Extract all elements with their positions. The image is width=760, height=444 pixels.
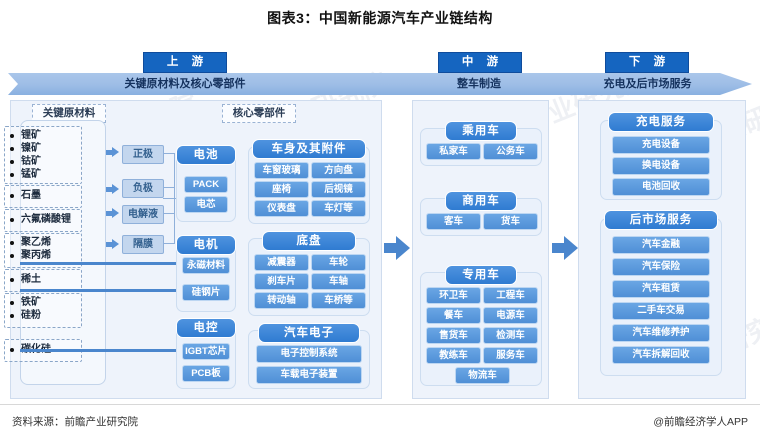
material-box-electrolyte[interactable]: 电解液: [122, 205, 164, 224]
chip[interactable]: 换电设备: [612, 157, 710, 175]
chip[interactable]: 工程车: [483, 287, 538, 304]
stage-label-upstream: 关键原材料及核心零部件: [90, 75, 280, 93]
chip[interactable]: 后视镜: [311, 181, 366, 198]
brand-note: @前瞻经济学人APP: [653, 414, 748, 429]
chip[interactable]: 物流车: [455, 367, 510, 384]
chip[interactable]: 汽车租赁: [612, 280, 710, 298]
connector-arrow-icon: [106, 208, 119, 219]
stage-tab-downstream[interactable]: 下 游: [605, 52, 689, 73]
material-box-separator[interactable]: 隔膜: [122, 235, 164, 254]
card-title-aftermarket-service: 后市场服务: [604, 210, 718, 230]
stage-label-downstream: 充电及后市场服务: [570, 75, 725, 93]
chip[interactable]: 教练车: [426, 347, 481, 364]
connector-arrow-icon: [106, 184, 119, 195]
chip[interactable]: 电子控制系统: [256, 345, 362, 363]
connector-line: [163, 198, 177, 199]
card-title-charging-service: 充电服务: [608, 112, 714, 132]
stage-arrow-icon: [552, 236, 578, 260]
chip[interactable]: 汽车拆解回收: [612, 346, 710, 364]
connector-line: [20, 289, 198, 292]
card-title-controller: 电控: [176, 318, 236, 338]
raw-item: 镍矿: [5, 142, 81, 155]
source-note: 资料来源：前瞻产业研究院: [12, 414, 138, 429]
raw-group: 六氟磷酸锂: [4, 209, 82, 232]
raw-group: 铁矿 硅粉: [4, 293, 82, 328]
chip[interactable]: 私家车: [426, 143, 481, 160]
raw-item: 聚乙烯: [5, 236, 81, 249]
chip[interactable]: 汽车保险: [612, 258, 710, 276]
connector-line: [20, 262, 198, 265]
stage-tab-upstream[interactable]: 上 游: [143, 52, 227, 73]
raw-group: 锂矿 镍矿 钴矿 锰矿: [4, 126, 82, 184]
chip[interactable]: 二手车交易: [612, 302, 710, 320]
chip[interactable]: 汽车维修养护: [612, 324, 710, 342]
raw-item: 六氟磷酸锂: [5, 213, 81, 226]
raw-item: 稀土: [5, 273, 81, 286]
section-title-core-components: 核心零部件: [222, 104, 296, 123]
raw-item: 锂矿: [5, 129, 81, 142]
chip[interactable]: 座椅: [254, 181, 309, 198]
raw-group: 石墨: [4, 185, 82, 208]
chip[interactable]: PCB板: [182, 365, 230, 382]
card-title-body-accessories: 车身及其附件: [252, 139, 366, 159]
connector-line: [20, 349, 198, 352]
chip[interactable]: 刹车片: [254, 273, 309, 290]
chip[interactable]: 车桥等: [311, 292, 366, 309]
raw-item: 硅粉: [5, 309, 81, 322]
chip[interactable]: 车载电子装置: [256, 366, 362, 384]
card-title-motor: 电机: [176, 235, 236, 255]
chip[interactable]: 服务车: [483, 347, 538, 364]
chip[interactable]: 电池回收: [612, 178, 710, 196]
chip[interactable]: 减震器: [254, 254, 309, 271]
chip[interactable]: 餐车: [426, 307, 481, 324]
chip[interactable]: IGBT芯片: [182, 343, 230, 360]
card-title-auto-electronics: 汽车电子: [258, 323, 360, 343]
footer-divider: [0, 404, 760, 405]
page-title: 图表3：中国新能源汽车产业链结构: [0, 8, 760, 28]
stage-label-midstream: 整车制造: [404, 75, 554, 93]
raw-item: 钴矿: [5, 155, 81, 168]
material-box-anode[interactable]: 负极: [122, 179, 164, 198]
chip[interactable]: 仪表盘: [254, 200, 309, 217]
raw-item: 铁矿: [5, 296, 81, 309]
chip[interactable]: PACK: [184, 176, 228, 193]
connector-arrow-icon: [106, 239, 119, 250]
stage-arrow-icon: [384, 236, 410, 260]
chip[interactable]: 电源车: [483, 307, 538, 324]
card-title-commercial-vehicle: 商用车: [445, 191, 517, 211]
stage-tab-midstream[interactable]: 中 游: [438, 52, 522, 73]
chip[interactable]: 环卫车: [426, 287, 481, 304]
chip[interactable]: 车轴: [311, 273, 366, 290]
chip[interactable]: 硅钢片: [182, 284, 230, 301]
card-title-battery: 电池: [176, 145, 236, 165]
chip[interactable]: 永磁材料: [182, 257, 230, 274]
chip[interactable]: 售货车: [426, 327, 481, 344]
chip[interactable]: 客车: [426, 213, 481, 230]
card-title-passenger-vehicle: 乘用车: [445, 121, 517, 141]
raw-item: 石墨: [5, 189, 81, 202]
connector-arrow-icon: [106, 147, 119, 158]
material-box-cathode[interactable]: 正极: [122, 145, 164, 164]
chip[interactable]: 车灯等: [311, 200, 366, 217]
chip[interactable]: 车轮: [311, 254, 366, 271]
chip[interactable]: 公务车: [483, 143, 538, 160]
chip[interactable]: 车窗玻璃: [254, 162, 309, 179]
chip[interactable]: 方向盘: [311, 162, 366, 179]
chip[interactable]: 检测车: [483, 327, 538, 344]
chip[interactable]: 汽车金融: [612, 236, 710, 254]
card-title-special-vehicle: 专用车: [445, 265, 517, 285]
raw-item: 锰矿: [5, 168, 81, 181]
chip[interactable]: 电芯: [184, 196, 228, 213]
chip[interactable]: 货车: [483, 213, 538, 230]
raw-item: 聚丙烯: [5, 249, 81, 262]
card-title-chassis: 底盘: [262, 231, 356, 251]
chip[interactable]: 充电设备: [612, 136, 710, 154]
chip[interactable]: 转动轴: [254, 292, 309, 309]
